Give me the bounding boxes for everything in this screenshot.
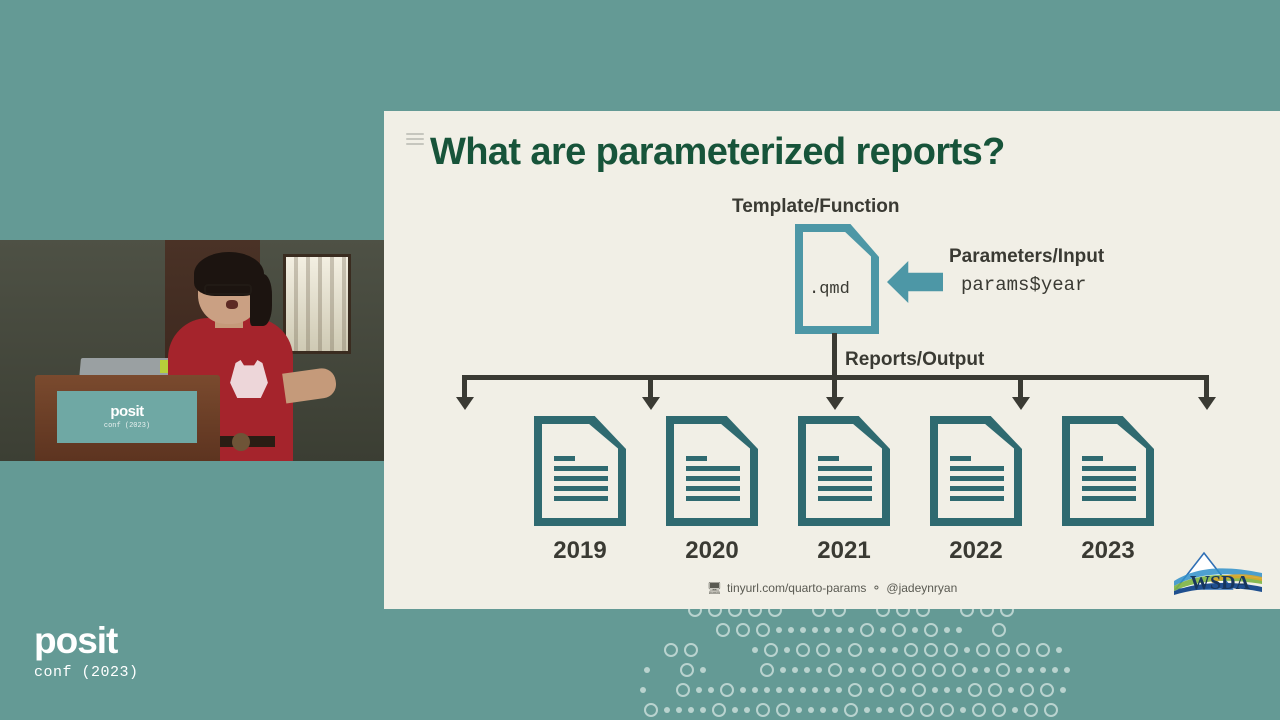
output-document-icon bbox=[534, 416, 626, 526]
presentation-slide[interactable]: What are parameterized reports? Template… bbox=[384, 111, 1280, 609]
wsda-logo: WSDA bbox=[1170, 545, 1266, 601]
monitor-icon: 🖥 bbox=[707, 582, 722, 594]
decorative-dot-pattern bbox=[640, 600, 1280, 720]
dot-pattern-row bbox=[640, 640, 1280, 660]
output-document-icon bbox=[798, 416, 890, 526]
output-year-label: 2019 bbox=[553, 537, 606, 565]
output-document-column: 2023 bbox=[1062, 416, 1154, 586]
template-function-label: Template/Function bbox=[732, 196, 899, 218]
output-year-label: 2023 bbox=[1081, 537, 1134, 565]
flow-connector bbox=[444, 333, 1224, 413]
mastodon-icon: ⚬ bbox=[871, 582, 881, 594]
posit-conf-year: conf (2023) bbox=[34, 664, 139, 681]
posit-wordmark: posit bbox=[34, 622, 139, 659]
output-year-label: 2022 bbox=[949, 537, 1002, 565]
hamburger-menu-icon[interactable] bbox=[406, 133, 424, 145]
podium-sign-wordmark: posit bbox=[110, 404, 143, 419]
slide-footer-credits: 🖥 tinyurl.com/quarto-params ⚬ @jadeynrya… bbox=[384, 581, 1280, 595]
slide-title: What are parameterized reports? bbox=[430, 131, 1005, 174]
output-document-column: 2021 bbox=[798, 416, 890, 586]
output-document-icon bbox=[930, 416, 1022, 526]
params-code-text: params$year bbox=[961, 274, 1086, 296]
template-doc-extension: .qmd bbox=[809, 280, 850, 299]
speaker-hair-side bbox=[250, 274, 272, 326]
output-document-column: 2022 bbox=[930, 416, 1022, 586]
podium-sign: posit conf (2023) bbox=[57, 391, 197, 443]
podium-sign-conf: conf (2023) bbox=[104, 422, 150, 430]
dot-pattern-row bbox=[640, 680, 1280, 700]
output-document-icon bbox=[666, 416, 758, 526]
dot-pattern-row bbox=[644, 660, 1280, 680]
posit-conf-branding: posit conf (2023) bbox=[34, 622, 139, 681]
speaker-webcam[interactable]: posit conf (2023) bbox=[0, 240, 384, 461]
output-documents-row: 20192020202120222023 bbox=[534, 416, 1154, 586]
template-document-icon: .qmd bbox=[795, 224, 879, 334]
speaker-belt-buckle bbox=[232, 433, 250, 451]
speaker-glasses bbox=[204, 284, 252, 295]
dot-pattern-row bbox=[644, 700, 1280, 720]
dot-pattern-row bbox=[644, 620, 1280, 640]
left-arrow-icon bbox=[887, 261, 943, 303]
parameters-input-label: Parameters/Input bbox=[949, 246, 1104, 268]
output-document-icon bbox=[1062, 416, 1154, 526]
output-year-label: 2020 bbox=[685, 537, 738, 565]
output-year-label: 2021 bbox=[817, 537, 870, 565]
wsda-logo-text: WSDA bbox=[1190, 572, 1251, 594]
output-document-column: 2019 bbox=[534, 416, 626, 586]
output-document-column: 2020 bbox=[666, 416, 758, 586]
footer-link-text[interactable]: tinyurl.com/quarto-params bbox=[727, 581, 866, 595]
speaker-mouth bbox=[226, 300, 238, 309]
room-window bbox=[283, 254, 351, 354]
footer-social-handle[interactable]: @jadeynryan bbox=[886, 581, 957, 595]
podium: posit conf (2023) bbox=[35, 375, 220, 461]
